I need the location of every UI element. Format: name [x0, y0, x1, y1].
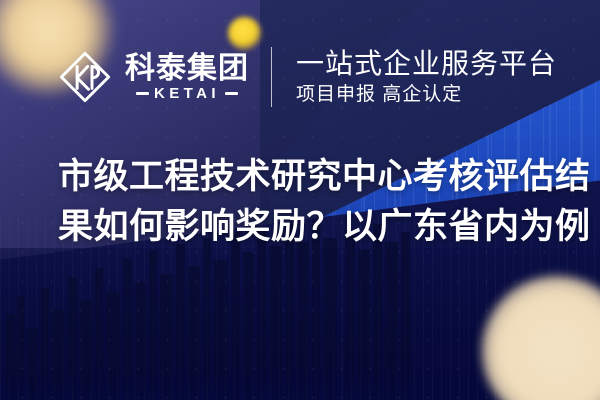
page-title: 市级工程技术研究中心考核评估结 果如何影响奖励？以广东省内为例 — [58, 152, 578, 252]
logo-rule-left — [136, 92, 149, 95]
banner-header: 科泰集团 KETAI 一站式企业服务平台 项目申报 高企认定 — [0, 38, 600, 116]
ketai-diamond-monogram-icon — [57, 49, 113, 105]
header-divider — [271, 47, 272, 107]
title-line-2: 果如何影响奖励？以广东省内为例 — [58, 202, 578, 252]
logo-rule-right — [225, 92, 238, 95]
promo-banner: 科泰集团 KETAI 一站式企业服务平台 项目申报 高企认定 市级工程技术研究中… — [0, 0, 600, 400]
tagline-main: 一站式企业服务平台 — [296, 50, 557, 78]
logo-company-name-cn: 科泰集团 — [125, 54, 249, 84]
logo-company-name-en-row: KETAI — [125, 86, 249, 101]
header-tagline: 一站式企业服务平台 项目申报 高企认定 — [296, 50, 557, 104]
title-line-1: 市级工程技术研究中心考核评估结 — [58, 152, 578, 202]
tagline-sub: 项目申报 高企认定 — [296, 85, 557, 104]
logo-company-name-en: KETAI — [154, 86, 220, 101]
company-logo[interactable]: 科泰集团 KETAI — [57, 49, 249, 105]
logo-wordmark: 科泰集团 KETAI — [125, 54, 249, 101]
